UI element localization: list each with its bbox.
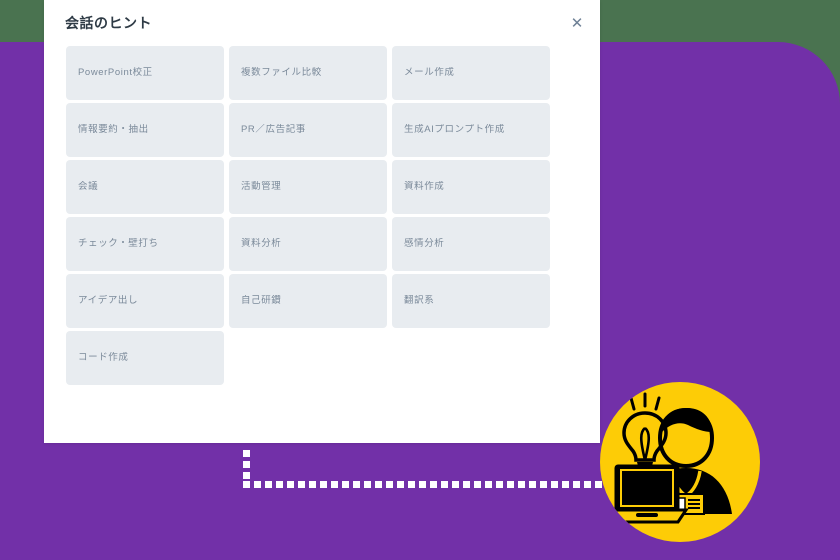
hint-tile[interactable]: コード作成: [66, 331, 224, 385]
hint-tile[interactable]: 生成AIプロンプト作成: [392, 103, 550, 157]
connector-dot: [364, 481, 371, 488]
connector-dot: [441, 481, 448, 488]
connector-dot: [518, 481, 525, 488]
hint-tile-label: 会議: [78, 181, 98, 193]
hint-tile-label: 自己研鑽: [241, 295, 281, 307]
connector-dot: [386, 481, 393, 488]
connector-dot: [353, 481, 360, 488]
hint-tile-label: メール作成: [404, 67, 455, 79]
connector-dot: [474, 481, 481, 488]
hint-tile-label: PR／広告記事: [241, 124, 306, 136]
connector-dot: [507, 481, 514, 488]
hint-tile-label: 情報要約・抽出: [78, 124, 149, 136]
screenshot-stage: 会話のヒント ✕ PowerPoint校正複数ファイル比較メール作成情報要約・抽…: [0, 0, 840, 560]
connector-dot: [243, 450, 250, 457]
hint-tile-label: 翻訳系: [404, 295, 434, 307]
hint-tile[interactable]: 資料分析: [229, 217, 387, 271]
connector-dot: [529, 481, 536, 488]
connector-dot: [551, 481, 558, 488]
hint-tile-label: アイデア出し: [78, 295, 138, 307]
hint-tile[interactable]: 自己研鑽: [229, 274, 387, 328]
connector-dot: [430, 481, 437, 488]
hint-tile[interactable]: 情報要約・抽出: [66, 103, 224, 157]
connector-dot: [397, 481, 404, 488]
connector-dot: [331, 481, 338, 488]
hint-tile-label: 資料分析: [241, 238, 281, 250]
connector-dot: [408, 481, 415, 488]
hint-tile[interactable]: 資料作成: [392, 160, 550, 214]
page-title: 会話のヒント: [65, 13, 152, 33]
connector-dot: [243, 472, 250, 479]
hint-tile[interactable]: PowerPoint校正: [66, 46, 224, 100]
hint-tile[interactable]: 感情分析: [392, 217, 550, 271]
connector-dot: [254, 481, 261, 488]
hint-tile[interactable]: チェック・壁打ち: [66, 217, 224, 271]
connector-dot: [320, 481, 327, 488]
connector-dot: [309, 481, 316, 488]
hint-tile-grid: PowerPoint校正複数ファイル比較メール作成情報要約・抽出PR／広告記事生…: [66, 46, 578, 385]
connector-dot: [485, 481, 492, 488]
connector-dot: [243, 481, 250, 488]
hint-tile[interactable]: 活動管理: [229, 160, 387, 214]
hint-tile[interactable]: PR／広告記事: [229, 103, 387, 157]
connector-dot: [540, 481, 547, 488]
connector-dot: [298, 481, 305, 488]
connector-dot: [287, 481, 294, 488]
connector-dot: [276, 481, 283, 488]
hint-tile-label: コード作成: [78, 352, 129, 364]
hint-tile-label: 活動管理: [241, 181, 281, 193]
hint-tile[interactable]: 複数ファイル比較: [229, 46, 387, 100]
hint-tile[interactable]: 翻訳系: [392, 274, 550, 328]
connector-dot: [419, 481, 426, 488]
hint-tile[interactable]: アイデア出し: [66, 274, 224, 328]
hint-tile-label: PowerPoint校正: [78, 67, 153, 79]
hint-tile[interactable]: メール作成: [392, 46, 550, 100]
hint-tile[interactable]: 会議: [66, 160, 224, 214]
connector-dot: [265, 481, 272, 488]
hint-tile-label: 生成AIプロンプト作成: [404, 124, 505, 136]
connector-dot: [452, 481, 459, 488]
connector-dot: [496, 481, 503, 488]
hint-tile-label: チェック・壁打ち: [78, 238, 159, 250]
illustration-badge: [600, 382, 760, 542]
connector-dot: [342, 481, 349, 488]
hint-tile-label: 複数ファイル比較: [241, 67, 322, 79]
connector-dot: [562, 481, 569, 488]
connector-dot: [584, 481, 591, 488]
close-icon[interactable]: ✕: [566, 12, 588, 34]
connector-dot: [573, 481, 580, 488]
dialog-header: 会話のヒント ✕: [44, 0, 600, 44]
connector-dot: [243, 461, 250, 468]
connector-dot: [595, 481, 602, 488]
connector-dot: [375, 481, 382, 488]
hint-tile-label: 資料作成: [404, 181, 444, 193]
conversation-hints-dialog: 会話のヒント ✕ PowerPoint校正複数ファイル比較メール作成情報要約・抽…: [44, 0, 600, 443]
connector-dot: [463, 481, 470, 488]
hint-tile-label: 感情分析: [404, 238, 444, 250]
person-with-laptop-and-lightbulb-icon: [600, 382, 760, 542]
